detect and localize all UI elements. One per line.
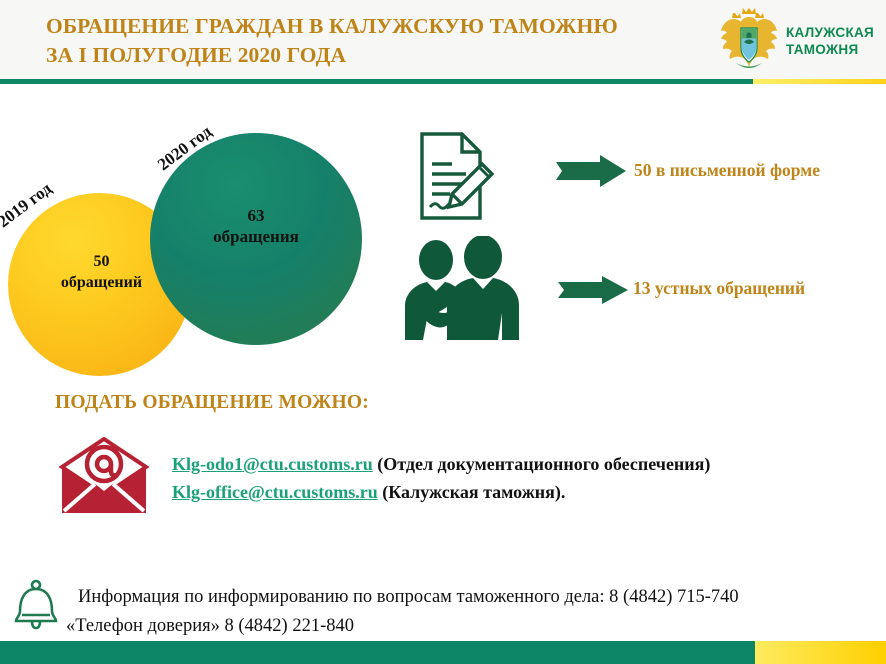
- footer-bar: [0, 641, 886, 664]
- submit-section-heading: ПОДАТЬ ОБРАЩЕНИЕ МОЖНО:: [55, 392, 369, 414]
- email-list: Klg-odo1@ctu.customs.ru (Отдел документа…: [172, 450, 710, 506]
- infographic-poster: ОБРАЩЕНИЕ ГРАЖДАН В КАЛУЖСКУЮ ТАМОЖНЮ ЗА…: [0, 0, 886, 664]
- logo-label: КАЛУЖСКАЯ ТАМОЖНЯ: [786, 24, 874, 58]
- email-line-2: Klg-office@ctu.customs.ru (Калужская там…: [172, 478, 710, 506]
- bell-icon: [12, 578, 60, 634]
- bubble-2020-label: 63 обращения: [150, 205, 362, 247]
- oral-appeals-label: 13 устных обращений: [633, 278, 805, 299]
- document-with-pen-icon: [404, 128, 504, 229]
- footer-bar-green-segment: [0, 641, 755, 664]
- header-banner: ОБРАЩЕНИЕ ГРАЖДАН В КАЛУЖСКУЮ ТАМОЖНЮ ЗА…: [0, 0, 886, 79]
- arrow-right-icon-oral: [558, 272, 630, 311]
- channel-row-written: 50 в письменной форме: [404, 128, 882, 228]
- email-link-office[interactable]: Klg-office@ctu.customs.ru: [172, 482, 378, 502]
- email-envelope-at-icon: [58, 437, 150, 515]
- email-desc-office: (Калужская таможня).: [382, 482, 565, 502]
- footer-info-line-1: Информация по информированию по вопросам…: [66, 583, 876, 612]
- email-line-1: Klg-odo1@ctu.customs.ru (Отдел документа…: [172, 450, 710, 478]
- bubble-2020-count: 63: [150, 205, 362, 226]
- footer-bar-yellow-segment: [755, 641, 886, 664]
- written-appeals-label: 50 в письменной форме: [634, 160, 820, 181]
- footer-info-block: Информация по информированию по вопросам…: [66, 583, 876, 641]
- page-title: ОБРАЩЕНИЕ ГРАЖДАН В КАЛУЖСКУЮ ТАМОЖНЮ ЗА…: [46, 12, 726, 70]
- footer-info-line-2: «Телефон доверия» 8 (4842) 221-840: [66, 612, 876, 641]
- header-rule-green-segment: [0, 79, 753, 84]
- header-rule-yellow-segment: [753, 79, 886, 84]
- double-headed-eagle-emblem-icon: [718, 6, 780, 74]
- bubble-2020: 63 обращения: [150, 133, 362, 345]
- channel-row-oral: 13 устных обращений: [395, 236, 882, 336]
- email-desc-odo1: (Отдел документационного обеспечения): [377, 454, 710, 474]
- customs-logo: КАЛУЖСКАЯ ТАМОЖНЯ: [718, 6, 878, 76]
- email-link-odo1[interactable]: Klg-odo1@ctu.customs.ru: [172, 454, 373, 474]
- arrow-right-icon-written: [556, 154, 628, 193]
- two-people-handshake-icon: [395, 236, 535, 349]
- bubble-2020-unit: обращения: [150, 226, 362, 247]
- header-divider-rule: [0, 79, 886, 84]
